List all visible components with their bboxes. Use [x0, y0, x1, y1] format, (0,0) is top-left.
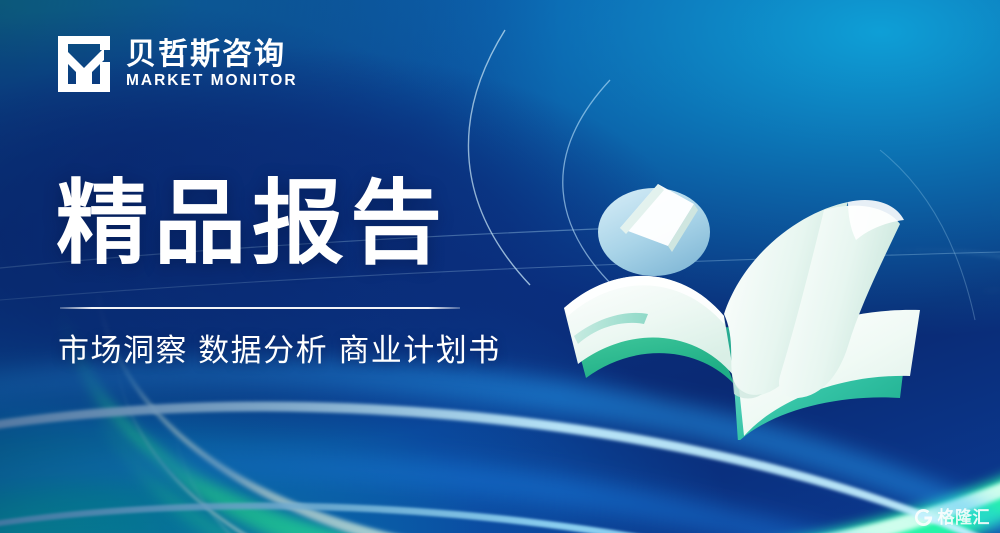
blue-ribbon-highlight: [0, 528, 1000, 533]
watermark: 格隆汇: [914, 508, 991, 527]
watermark-text: 格隆汇: [938, 509, 991, 526]
brand-logo-text: 贝哲斯咨询 MARKET MONITOR: [126, 39, 298, 90]
market-monitor-m-logo-icon: [56, 34, 112, 94]
brand-name-cn: 贝哲斯咨询: [126, 39, 298, 71]
page-title: 精品报告: [56, 178, 448, 270]
brand-name-en: MARKET MONITOR: [126, 73, 298, 89]
green-glow: [560, 0, 1000, 30]
subtitle: 市场洞察 数据分析 商业计划书: [58, 329, 501, 372]
brand-logo-lockup: 贝哲斯咨询 MARKET MONITOR: [56, 34, 298, 94]
blue-ribbon-highlight: [0, 435, 1000, 533]
promotional-banner: 贝哲斯咨询 MARKET MONITOR 精品报告 市场洞察 数据分析 商业计划…: [0, 0, 1000, 533]
title-divider: [60, 307, 460, 309]
gelonghui-g-logo-icon: [914, 508, 933, 527]
open-book-illustration: [548, 150, 948, 440]
blue-ribbon: [0, 467, 1000, 533]
